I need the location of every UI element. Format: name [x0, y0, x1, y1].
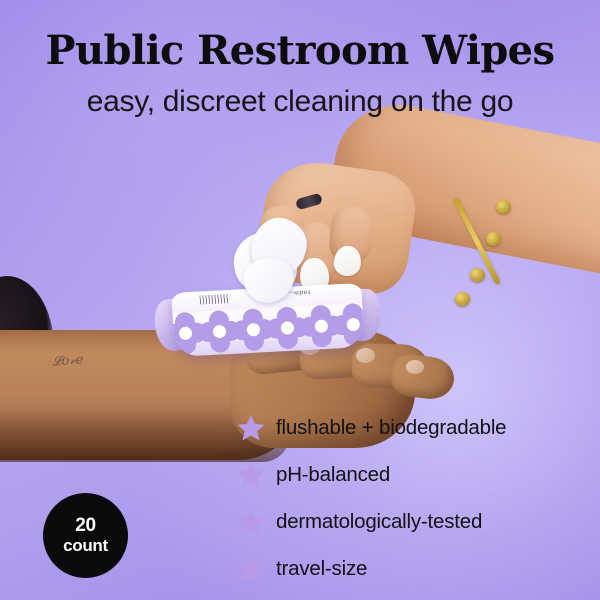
bracelet-charm: [455, 292, 470, 306]
list-item: flushable + biodegradable: [236, 404, 596, 451]
left-fingernail: [406, 360, 424, 374]
list-item-label: pH-balanced: [276, 463, 390, 487]
star-icon: [236, 413, 266, 443]
product-ad-image: 𝓛𝑜𝓋𝑒 wipes: [0, 0, 600, 600]
list-item: travel-size: [236, 545, 596, 592]
bracelet-charm: [496, 200, 511, 214]
bracelet-charm: [470, 268, 485, 282]
star-icon: [236, 554, 266, 584]
count-badge-unit: count: [63, 537, 108, 555]
count-badge: 20 count: [43, 493, 128, 578]
page-title: Public Restroom Wipes: [0, 30, 600, 72]
page-subtitle: easy, discreet cleaning on the go: [0, 84, 600, 120]
pack-barcode: [200, 294, 230, 305]
list-item-label: flushable + biodegradable: [276, 416, 506, 440]
list-item: dermatologically-tested: [236, 498, 596, 545]
bracelet-charm: [486, 232, 501, 246]
pack-flower-pattern: [172, 300, 364, 357]
feature-list: flushable + biodegradable pH-balanced de…: [236, 404, 596, 592]
list-item: pH-balanced: [236, 451, 596, 498]
list-item-label: travel-size: [276, 557, 367, 581]
list-item-label: dermatologically-tested: [276, 510, 482, 534]
star-icon: [236, 507, 266, 537]
star-icon: [236, 460, 266, 490]
left-fingernail: [356, 348, 375, 363]
count-badge-number: 20: [75, 516, 96, 537]
